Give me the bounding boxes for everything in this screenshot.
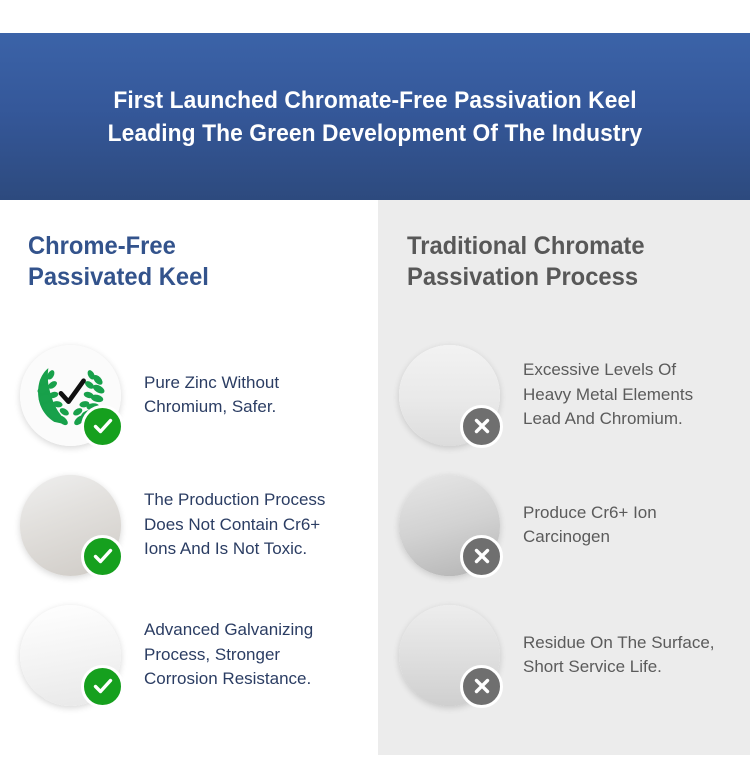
comparison-columns: Chrome-Free Passivated Keel — [0, 200, 750, 784]
row-text-line-2: Carcinogen — [523, 525, 657, 550]
row-text-line-2: Short Service Life. — [523, 655, 715, 680]
list-item-text: Produce Cr6+ Ion Carcinogen — [500, 501, 657, 550]
check-badge-icon — [81, 535, 124, 578]
list-item: Produce Cr6+ Ion Carcinogen — [378, 460, 750, 590]
check-icon — [91, 544, 115, 568]
list-item-text: The Production Process Does Not Contain … — [121, 488, 325, 562]
list-item-text: Excessive Levels Of Heavy Metal Elements… — [500, 358, 693, 432]
row-text-line-3: Ions And Is Not Toxic. — [144, 537, 325, 562]
corroded-bracket-photo — [399, 605, 500, 706]
row-text-line-1: Pure Zinc Without — [144, 371, 279, 396]
column-traditional-chromate: Traditional Chromate Passivation Process — [378, 200, 750, 755]
check-badge-icon — [81, 405, 124, 448]
banner-title-line-1: First Launched Chromate-Free Passivation… — [50, 84, 701, 117]
right-column-rows: Excessive Levels Of Heavy Metal Elements… — [378, 330, 750, 720]
cross-icon — [470, 544, 494, 568]
lab-technicians-photo — [20, 475, 121, 576]
list-item-text: Advanced Galvanizing Process, Stronger C… — [121, 618, 313, 692]
row-text-line-3: Corrosion Resistance. — [144, 667, 313, 692]
right-column-heading: Traditional Chromate Passivation Process — [407, 231, 721, 293]
list-item: Excessive Levels Of Heavy Metal Elements… — [378, 330, 750, 460]
row-text-line-1: Excessive Levels Of — [523, 358, 693, 383]
galvanized-keel-photo — [20, 605, 121, 706]
left-column-heading: Chrome-Free Passivated Keel — [28, 231, 332, 293]
row-text-line-1: The Production Process — [144, 488, 325, 513]
cross-badge-icon — [460, 665, 503, 708]
check-icon — [91, 414, 115, 438]
cross-badge-icon — [460, 405, 503, 448]
row-text-line-2: Heavy Metal Elements — [523, 383, 693, 408]
list-item-text: Residue On The Surface, Short Service Li… — [500, 631, 715, 680]
banner-title: First Launched Chromate-Free Passivation… — [50, 84, 701, 150]
laboratory-workers-photo — [399, 475, 500, 576]
header-banner: First Launched Chromate-Free Passivation… — [0, 33, 750, 200]
list-item: Pure Zinc Without Chromium, Safer. — [0, 330, 378, 460]
column-chrome-free: Chrome-Free Passivated Keel — [0, 200, 378, 784]
cross-badge-icon — [460, 535, 503, 578]
row-text-line-2: Chromium, Safer. — [144, 395, 279, 420]
left-heading-line-2: Passivated Keel — [28, 262, 332, 293]
row-text-line-1: Produce Cr6+ Ion — [523, 501, 657, 526]
left-column-rows: Pure Zinc Without Chromium, Safer. — [0, 330, 378, 720]
infographic-page: First Launched Chromate-Free Passivation… — [0, 0, 750, 784]
right-heading-line-1: Traditional Chromate — [407, 231, 721, 262]
right-heading-line-2: Passivation Process — [407, 262, 721, 293]
cross-icon — [470, 414, 494, 438]
gas-mask-worker-photo — [399, 345, 500, 446]
row-text-line-1: Residue On The Surface, — [523, 631, 715, 656]
row-text-line-3: Lead And Chromium. — [523, 407, 693, 432]
banner-title-line-2: Leading The Green Development Of The Ind… — [50, 117, 701, 150]
left-heading-line-1: Chrome-Free — [28, 231, 332, 262]
list-item-text: Pure Zinc Without Chromium, Safer. — [121, 371, 279, 420]
check-icon — [91, 674, 115, 698]
check-badge-icon — [81, 665, 124, 708]
row-text-line-1: Advanced Galvanizing — [144, 618, 313, 643]
row-text-line-2: Process, Stronger — [144, 643, 313, 668]
list-item: The Production Process Does Not Contain … — [0, 460, 378, 590]
list-item: Residue On The Surface, Short Service Li… — [378, 590, 750, 720]
row-text-line-2: Does Not Contain Cr6+ — [144, 513, 325, 538]
list-item: Advanced Galvanizing Process, Stronger C… — [0, 590, 378, 720]
laurel-wreath-check-icon — [20, 345, 121, 446]
cross-icon — [470, 674, 494, 698]
